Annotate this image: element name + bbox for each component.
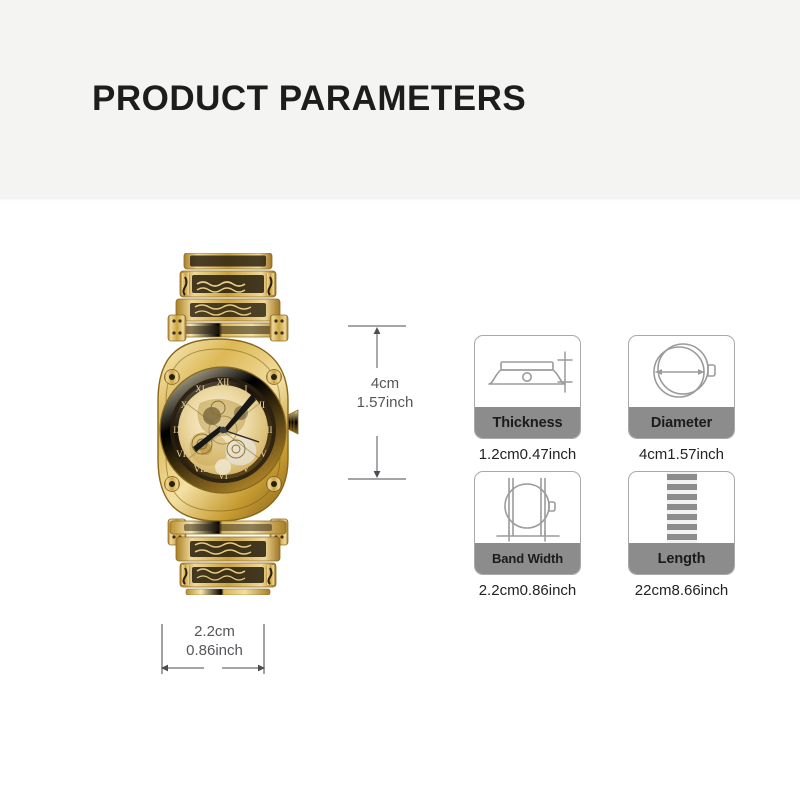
- spec-card-label: Length: [629, 543, 734, 574]
- watch-case-top-circle-icon: [629, 336, 734, 409]
- watch-case: XII I II III IV V VI VII VIII IX X XI: [158, 339, 288, 521]
- dimension-horizontal-cm: 2.2cm: [194, 623, 235, 640]
- skeleton-dial: [178, 385, 268, 475]
- watch-with-straps-icon: [475, 472, 580, 545]
- spec-card-label: Band Width: [475, 543, 580, 574]
- strap-links-icon: [629, 472, 734, 545]
- product-image-watch: XII I II III IV V VI VII VIII IX X XI: [140, 253, 316, 595]
- spec-card-body: Band Width: [474, 471, 581, 575]
- spec-card-label: Diameter: [629, 407, 734, 438]
- dimension-vertical-label: 4cm 1.57inch: [330, 374, 440, 412]
- watch-case-side-profile-icon: [475, 336, 580, 409]
- dimension-horizontal-label: 2.2cm 0.86inch: [152, 622, 277, 660]
- spec-card-length: Length 22cm8.66inch: [628, 471, 735, 599]
- spec-card-caption: 2.2cm0.86inch: [474, 582, 581, 599]
- watch-crown: [288, 410, 298, 434]
- page-title: PRODUCT PARAMETERS: [92, 79, 526, 119]
- dimension-horizontal-band-width: 2.2cm 0.86inch: [152, 618, 277, 688]
- spec-card-band-width: Band Width 2.2cm0.86inch: [474, 471, 581, 599]
- dimension-vertical-cm: 4cm: [371, 375, 399, 392]
- watch-bracelet-lower: [168, 519, 288, 595]
- spec-card-caption: 22cm8.66inch: [628, 582, 735, 599]
- watch-bracelet-upper: [168, 253, 288, 341]
- watch-illustration: XII I II III IV V VI VII VIII IX X XI: [140, 253, 316, 595]
- dimension-vertical-case-height: 4cm 1.57inch: [330, 312, 440, 492]
- spec-card-thickness: Thickness 1.2cm0.47inch: [474, 335, 581, 463]
- product-parameters-page: PRODUCT PARAMETERS: [0, 0, 800, 800]
- spec-card-body: Diameter: [628, 335, 735, 439]
- spec-card-body: Thickness: [474, 335, 581, 439]
- spec-card-diameter: Diameter 4cm1.57inch: [628, 335, 735, 463]
- spec-card-label: Thickness: [475, 407, 580, 438]
- dimension-horizontal-inch: 0.86inch: [186, 642, 243, 659]
- spec-card-caption: 1.2cm0.47inch: [474, 446, 581, 463]
- spec-card-caption: 4cm1.57inch: [628, 446, 735, 463]
- dimension-vertical-inch: 1.57inch: [357, 394, 414, 411]
- header-band: PRODUCT PARAMETERS: [0, 0, 800, 201]
- spec-card-grid: Thickness 1.2cm0.47inch: [474, 335, 764, 599]
- spec-card-body: Length: [628, 471, 735, 575]
